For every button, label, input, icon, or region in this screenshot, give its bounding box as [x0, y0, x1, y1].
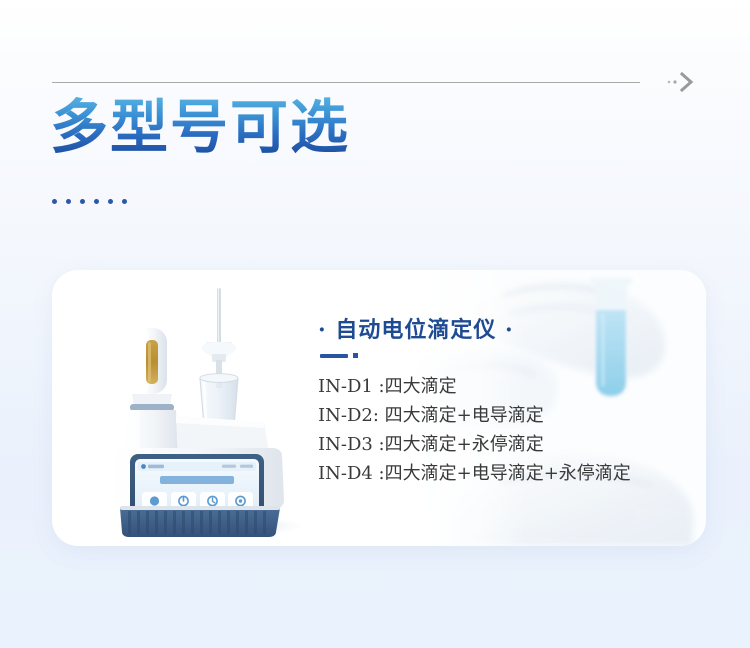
product-card: · 自动电位滴定仪 · IN-D1 :四大滴定 IN-D2: 四大滴定+电导滴定…: [52, 270, 706, 546]
list-item: IN-D4 :四大滴定+电导滴定+永停滴定: [318, 459, 698, 488]
accent-bar: [320, 354, 348, 358]
list-item: IN-D1 :四大滴定: [318, 372, 698, 401]
card-heading: · 自动电位滴定仪 ·: [318, 312, 698, 344]
automatic-potentiometric-titrator-image: [94, 282, 324, 540]
decor-dot: [122, 199, 127, 204]
list-item: IN-D3 :四大滴定+永停滴定: [318, 430, 698, 459]
list-item: IN-D2: 四大滴定+电导滴定: [318, 401, 698, 430]
decor-dot: [94, 199, 99, 204]
chevron-right-trail-icon[interactable]: [660, 71, 702, 93]
page-title: 多型号可选: [50, 96, 350, 159]
product-model-section: 多型号可选: [0, 0, 750, 648]
header-divider-line: [52, 82, 640, 83]
card-text-block: · 自动电位滴定仪 · IN-D1 :四大滴定 IN-D2: 四大滴定+电导滴定…: [318, 312, 698, 489]
decor-dot: [52, 199, 57, 204]
decorative-dot-row: [52, 199, 127, 204]
decor-dot: [80, 199, 85, 204]
decor-dot: [66, 199, 71, 204]
header-divider-row: [52, 70, 702, 94]
heading-underline-accent: [320, 353, 698, 358]
model-spec-list: IN-D1 :四大滴定 IN-D2: 四大滴定+电导滴定 IN-D3 :四大滴定…: [318, 372, 698, 489]
decor-dot: [108, 199, 113, 204]
accent-square: [353, 353, 358, 358]
